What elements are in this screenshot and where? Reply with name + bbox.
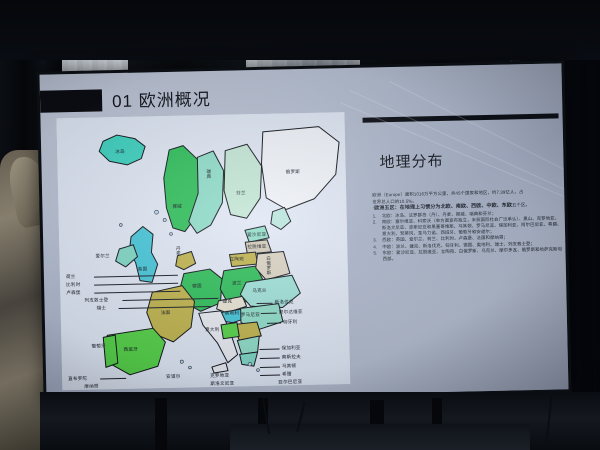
slide-content: 01 欧洲概况 bbox=[40, 63, 569, 400]
regions-bold: 北欧、南欧、西欧、中欧、东欧 bbox=[441, 203, 513, 211]
section-body: 欧洲（Europe）面积1016万平方公里，共45个国家和地区，约7.39亿人，… bbox=[372, 188, 563, 262]
map-label-andorra: 安道尔 bbox=[166, 374, 181, 380]
stand-shelf bbox=[230, 424, 530, 450]
map-label-moldova: 摩尔达维亚 bbox=[279, 309, 303, 316]
map-label-portugal: 葡萄牙 bbox=[91, 343, 106, 349]
map-label-estonia: 爱沙尼亚 bbox=[247, 232, 266, 238]
item-number: 4. bbox=[373, 244, 380, 250]
item-name: 南欧： bbox=[382, 219, 396, 224]
regions-lead: ·欧洲五区：在地理上习惯分为 bbox=[372, 204, 440, 211]
europe-map[interactable]: 冰岛 挪威 瑞典 芬兰 俄罗斯 爱尔兰 英国 丹麦 德国 波兰 捷克 奥地利 法… bbox=[56, 112, 350, 390]
map-label-poland: 波兰 bbox=[232, 280, 242, 286]
map-label-france: 法国 bbox=[161, 310, 171, 316]
title-label: 欧洲概况 bbox=[139, 90, 211, 111]
item-body: 塞尔维亚、科索沃（单方面宣布独立，未获国际社会广泛承认）、黑山、克罗地亚、斯洛文… bbox=[382, 216, 562, 236]
map-label-norway: 挪威 bbox=[172, 204, 182, 210]
map-label-gibraltar: 直布罗陀 bbox=[68, 376, 87, 382]
map-label-czech: 捷克 bbox=[222, 299, 232, 305]
map-label-switzerland: 瑞士 bbox=[97, 305, 107, 311]
stand-leg bbox=[155, 398, 167, 450]
section-heading: 地理分布 bbox=[379, 147, 563, 172]
item-name: 北欧： bbox=[382, 213, 396, 218]
item-number: 5. bbox=[373, 251, 380, 262]
photo-scene: 01 欧洲概况 bbox=[0, 0, 600, 450]
map-label-iceland: 冰岛 bbox=[115, 149, 125, 155]
map-label-finland: 芬兰 bbox=[236, 190, 246, 196]
map-label-yugoslavia: 南斯拉夫 bbox=[282, 354, 301, 360]
map-label-uk: 英国 bbox=[138, 266, 148, 272]
map-label-spain: 西班牙 bbox=[123, 347, 138, 353]
item-name: 中欧： bbox=[382, 244, 396, 249]
title-accent-block bbox=[40, 89, 102, 112]
map-label-italy: 意大利 bbox=[205, 327, 220, 333]
map-label-greece: 希腊 bbox=[282, 371, 292, 377]
map-label-austria: 奥地利 bbox=[225, 310, 240, 316]
item-name: 西欧： bbox=[382, 237, 396, 242]
page-title: 01 欧洲概况 bbox=[112, 85, 211, 112]
map-label-belarus: 白俄罗斯 bbox=[266, 256, 272, 275]
map-label-liechtenstein: 列支敦士登 bbox=[84, 297, 108, 304]
item-number: 3. bbox=[373, 237, 380, 243]
map-label-russia: 俄罗斯 bbox=[286, 169, 301, 175]
map-label-lithuania: 立陶宛 bbox=[230, 256, 245, 262]
item-text: 东欧：爱沙尼亚、拉脱维亚、立陶宛、白俄罗斯、乌克兰、摩尔多瓦、俄罗斯和哈萨克斯坦… bbox=[382, 247, 563, 262]
item-number: 1. bbox=[373, 213, 380, 219]
map-label-monaco: 摩纳哥 bbox=[84, 384, 99, 390]
item-name: 东欧： bbox=[382, 250, 396, 255]
item-number: 2. bbox=[373, 220, 380, 237]
title-number: 01 bbox=[112, 92, 133, 111]
map-label-denmark: 丹麦 bbox=[175, 246, 181, 256]
region-item-5: 5. 东欧：爱沙尼亚、拉脱维亚、立陶宛、白俄罗斯、乌克兰、摩尔多瓦、俄罗斯和哈萨… bbox=[373, 247, 563, 262]
map-label-luxembourg: 卢森堡 bbox=[66, 290, 81, 296]
map-label-germany: 德国 bbox=[192, 283, 202, 289]
map-label-romania: 罗马尼亚 bbox=[241, 312, 260, 318]
map-label-slovakia: 斯洛伐克 bbox=[274, 299, 293, 305]
map-label-albania: 亚尔巴尼亚 bbox=[278, 379, 302, 386]
regions-tail: 五个区。 bbox=[512, 202, 530, 207]
map-label-ukraine: 乌克兰 bbox=[252, 288, 267, 294]
map-label-netherlands: 荷兰 bbox=[66, 274, 76, 280]
map-label-hungary: 匈牙利 bbox=[283, 319, 298, 325]
curtain-valance bbox=[0, 0, 600, 60]
map-label-croatia: 克罗地亚 bbox=[210, 373, 229, 379]
map-label-bulgaria: 保加利亚 bbox=[281, 345, 300, 351]
projection-screen[interactable]: 01 欧洲概况 bbox=[36, 60, 571, 403]
map-label-latvia: 拉脱维亚 bbox=[247, 244, 266, 250]
map-label-macedonia: 马其顿 bbox=[282, 363, 297, 369]
right-panel: 地理分布 欧洲（Europe）面积1016万平方公里，共45个国家和地区，约7.… bbox=[363, 125, 566, 263]
map-label-sweden: 瑞典 bbox=[206, 169, 212, 179]
map-label-ireland: 爱尔兰 bbox=[95, 253, 110, 259]
item-body: 爱沙尼亚、拉脱维亚、立陶宛、白俄罗斯、乌克兰、摩尔多瓦、俄罗斯和哈萨克斯坦西部。 bbox=[383, 247, 563, 262]
map-label-belgium: 比利时 bbox=[66, 282, 81, 288]
map-label-slovenia: 斯洛文尼亚 bbox=[210, 381, 234, 388]
